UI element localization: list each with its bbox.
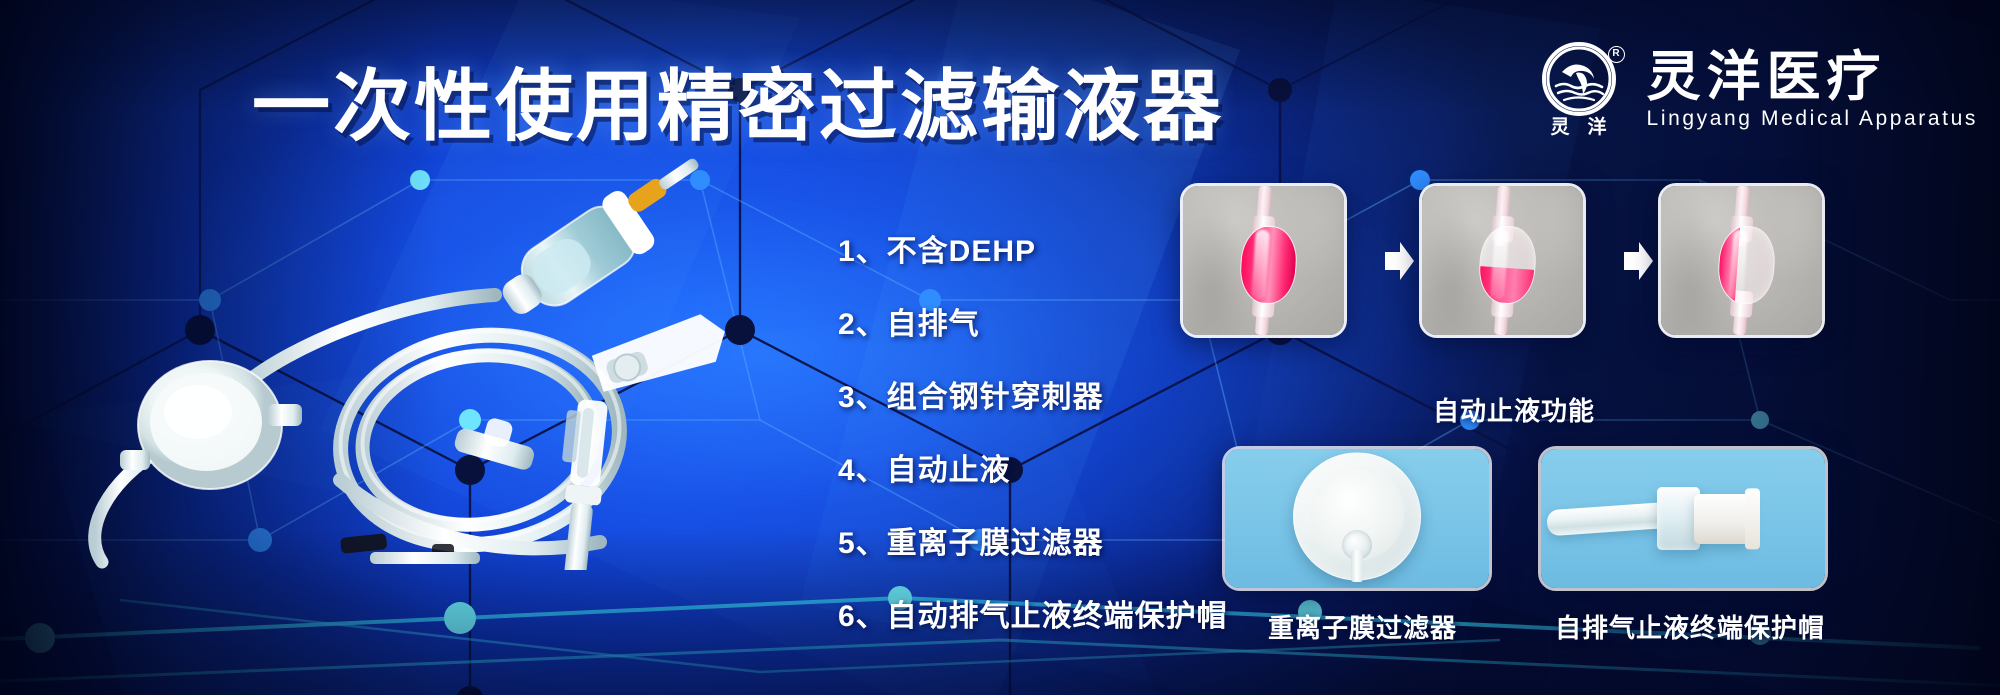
card-heavy-ion-membrane-filter (1222, 446, 1492, 591)
product-banner: 一次性使用精密过滤输液器 R 灵 洋 灵洋医疗 (0, 0, 2000, 695)
sequence-frame-3 (1658, 183, 1825, 338)
cap-flange (1745, 488, 1759, 549)
drip-chamber (1237, 224, 1298, 306)
iv-infusion-set-illustration (40, 150, 800, 570)
brand-name-block: 灵洋医疗 Lingyang Medical Apparatus (1647, 50, 1978, 129)
brand-emblem: R 灵 洋 (1531, 42, 1627, 137)
emblem-art-icon (1546, 46, 1612, 112)
hero-product-image (40, 150, 800, 570)
protective-cap (1694, 493, 1751, 543)
registered-trademark-icon: R (1608, 46, 1625, 63)
feature-list: 1、不含DEHP 2、自排气 3、组合钢针穿刺器 4、自动止液 5、重离子膜过滤… (838, 226, 1228, 635)
wave-emblem-icon (1542, 42, 1616, 116)
filter-outlet-port (1351, 550, 1363, 582)
feature-item-3: 3、组合钢针穿刺器 (838, 372, 1228, 416)
feature-item-6: 6、自动排气止液终端保护帽 (838, 591, 1228, 635)
sequence-caption: 自动止液功能 (1433, 391, 1595, 428)
card-self-venting-terminal-cap (1538, 446, 1828, 591)
arrow-right-icon (1622, 240, 1654, 282)
arrow-right-icon (1383, 240, 1415, 282)
sequence-frame-2 (1419, 183, 1586, 338)
feature-item-4: 4、自动止液 (838, 445, 1228, 489)
brand-name-en: Lingyang Medical Apparatus (1647, 108, 1978, 129)
emblem-char-right: 洋 (1588, 118, 1607, 137)
brand-logo: R 灵 洋 灵洋医疗 Lingyang Medical Apparatus (1531, 42, 1978, 137)
feature-item-1: 1、不含DEHP (838, 226, 1228, 270)
feature-item-2: 2、自排气 (838, 299, 1228, 343)
feature-item-5: 5、重离子膜过滤器 (838, 518, 1228, 562)
emblem-char-left: 灵 (1551, 118, 1570, 137)
emblem-subtext: 灵 洋 (1551, 118, 1607, 137)
card-caption-filter: 重离子膜过滤器 (1268, 608, 1457, 645)
page-title: 一次性使用精密过滤输液器 (252, 44, 1224, 156)
brand-name-cn: 灵洋医疗 (1647, 50, 1978, 104)
card-caption-cap: 自排气止液终端保护帽 (1555, 608, 1825, 645)
sequence-frame-1 (1180, 183, 1347, 338)
